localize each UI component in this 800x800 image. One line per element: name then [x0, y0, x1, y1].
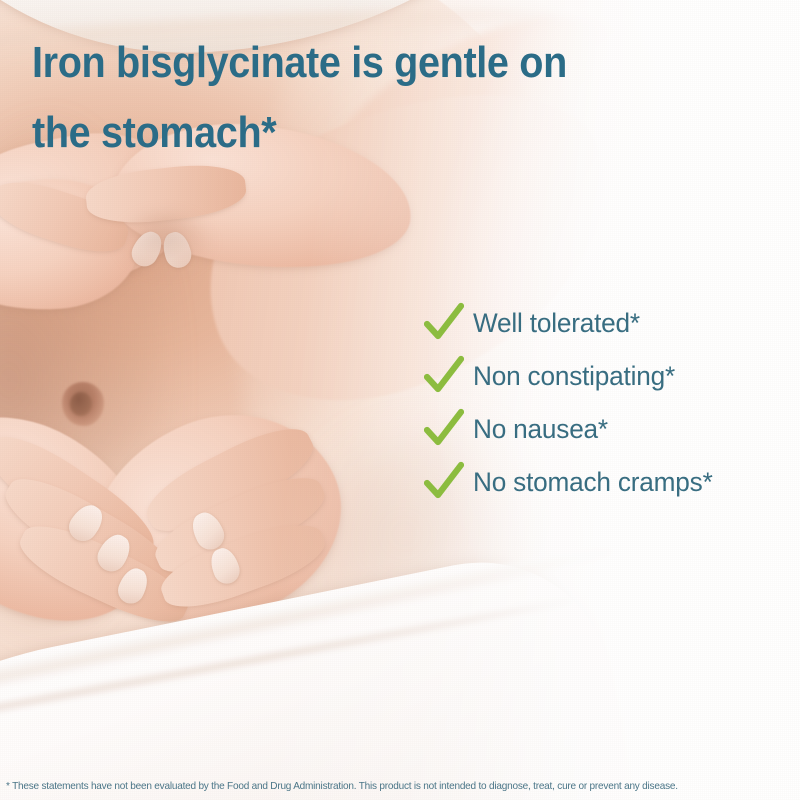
list-item: Non constipating*: [424, 349, 796, 402]
check-icon: [424, 461, 464, 503]
benefit-label: No nausea*: [473, 414, 608, 444]
benefit-label: Non constipating*: [473, 361, 675, 391]
page-title: Iron bisglycinate is gentle on the stoma…: [32, 28, 689, 168]
check-icon: [424, 355, 464, 397]
benefits-list: Well tolerated* Non constipating* No nau…: [424, 296, 796, 508]
check-icon: [424, 408, 464, 450]
benefit-label: Well tolerated*: [473, 308, 640, 338]
check-icon: [424, 302, 464, 344]
benefit-label: No stomach cramps*: [473, 467, 713, 497]
list-item: No nausea*: [424, 402, 796, 455]
list-item: No stomach cramps*: [424, 455, 796, 508]
heart-notch-shadow: [120, 214, 210, 272]
navel-core: [70, 392, 92, 416]
list-item: Well tolerated*: [424, 296, 796, 349]
disclaimer-text: * These statements have not been evaluat…: [6, 780, 784, 794]
promo-image-canvas: Iron bisglycinate is gentle on the stoma…: [0, 0, 800, 800]
